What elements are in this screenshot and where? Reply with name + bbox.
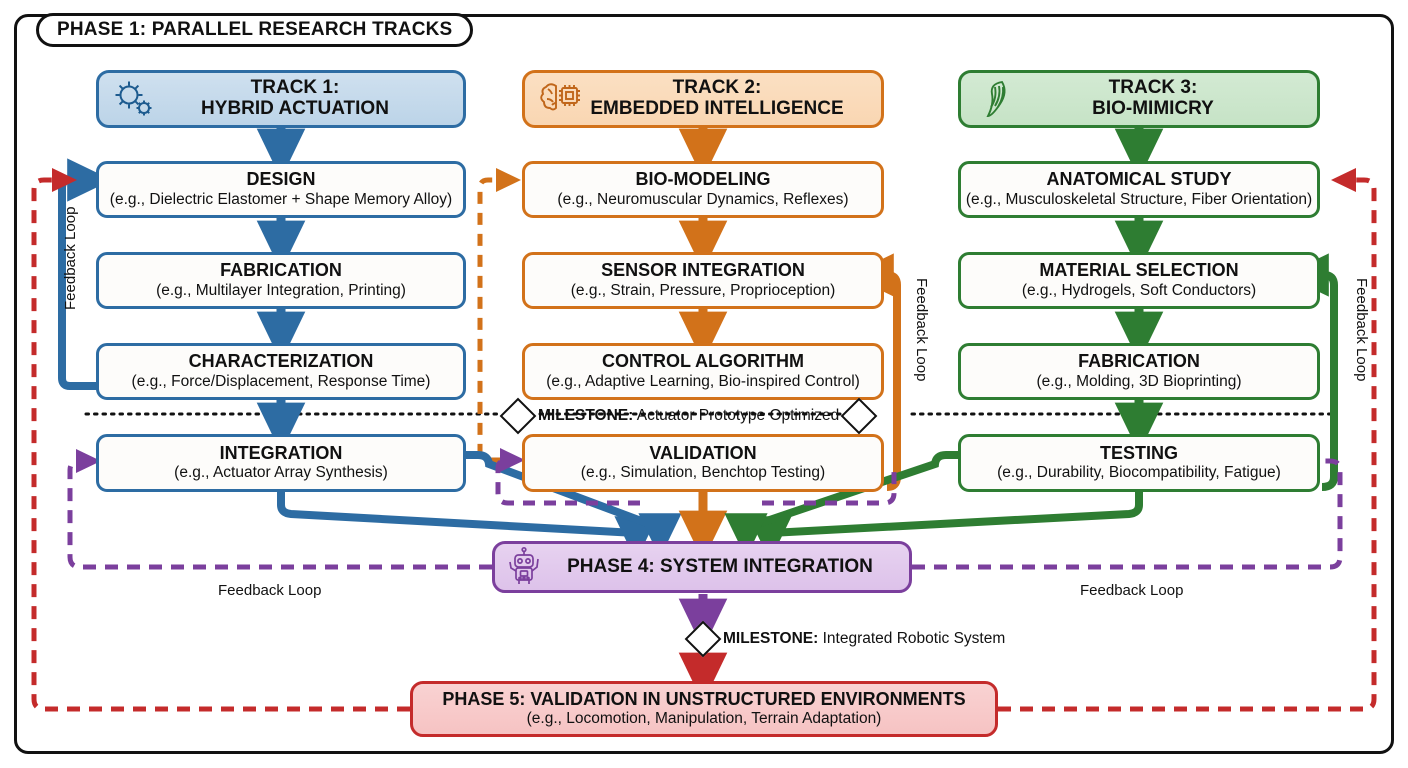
step-fabrication-t3[interactable]: FABRICATION (e.g., Molding, 3D Bioprinti… [958,343,1320,400]
phase5-title: PHASE 5: VALIDATION IN UNSTRUCTURED ENVI… [442,690,965,710]
milestone-integrated: MILESTONE: Integrated Robotic System [690,626,1005,652]
robot-icon [505,546,545,588]
track3-header[interactable]: TRACK 3:BIO-MIMICRY [958,70,1320,128]
phase5-subtitle: (e.g., Locomotion, Manipulation, Terrain… [527,710,882,728]
track3-header-label: TRACK 3:BIO-MIMICRY [1058,78,1220,119]
track1-feedback-label: Feedback Loop [62,207,79,310]
milestone-actuator: MILESTONE: Actuator Prototype Optimized [505,403,872,429]
brain-chip-icon [537,76,583,122]
phase1-title: PHASE 1: PARALLEL RESEARCH TRACKS [36,13,473,47]
feedback-bottom-left-label: Feedback Loop [218,582,321,599]
step-anatomical-study[interactable]: ANATOMICAL STUDY (e.g., Musculoskeletal … [958,161,1320,218]
phase5-validation[interactable]: PHASE 5: VALIDATION IN UNSTRUCTURED ENVI… [410,681,998,737]
gears-icon [111,76,157,122]
muscle-fiber-icon [973,76,1019,122]
milestone-actuator-label: MILESTONE: Actuator Prototype Optimized [538,407,839,425]
step-characterization[interactable]: CHARACTERIZATION (e.g., Force/Displaceme… [96,343,466,400]
step-design[interactable]: DESIGN (e.g., Dielectric Elastomer + Sha… [96,161,466,218]
step-integration[interactable]: INTEGRATION (e.g., Actuator Array Synthe… [96,434,466,492]
track2-header-label: TRACK 2:EMBEDDED INTELLIGENCE [556,78,849,119]
track2-feedback-label: Feedback Loop [913,278,930,381]
phase4-system-integration[interactable]: PHASE 4: SYSTEM INTEGRATION [492,541,912,593]
step-fabrication-t1[interactable]: FABRICATION (e.g., Multilayer Integratio… [96,252,466,309]
feedback-bottom-right-label: Feedback Loop [1080,582,1183,599]
track1-header[interactable]: TRACK 1:HYBRID ACTUATION [96,70,466,128]
track1-header-label: TRACK 1:HYBRID ACTUATION [167,78,395,119]
step-sensor-integration[interactable]: SENSOR INTEGRATION (e.g., Strain, Pressu… [522,252,884,309]
milestone-diamond-icon [685,621,722,658]
track3-feedback-label: Feedback Loop [1353,278,1370,381]
milestone-diamond-left-icon [500,398,537,435]
diagram-canvas: PHASE 1: PARALLEL RESEARCH TRACKS [0,0,1408,768]
milestone-diamond-right-icon [841,398,878,435]
track2-header[interactable]: TRACK 2:EMBEDDED INTELLIGENCE [522,70,884,128]
step-validation[interactable]: VALIDATION (e.g., Simulation, Benchtop T… [522,434,884,492]
step-bio-modeling[interactable]: BIO-MODELING (e.g., Neuromuscular Dynami… [522,161,884,218]
step-testing[interactable]: TESTING (e.g., Durability, Biocompatibil… [958,434,1320,492]
phase4-label: PHASE 4: SYSTEM INTEGRATION [531,556,873,578]
milestone-integrated-label: MILESTONE: Integrated Robotic System [723,630,1005,648]
step-control-algorithm[interactable]: CONTROL ALGORITHM (e.g., Adaptive Learni… [522,343,884,400]
step-material-selection[interactable]: MATERIAL SELECTION (e.g., Hydrogels, Sof… [958,252,1320,309]
